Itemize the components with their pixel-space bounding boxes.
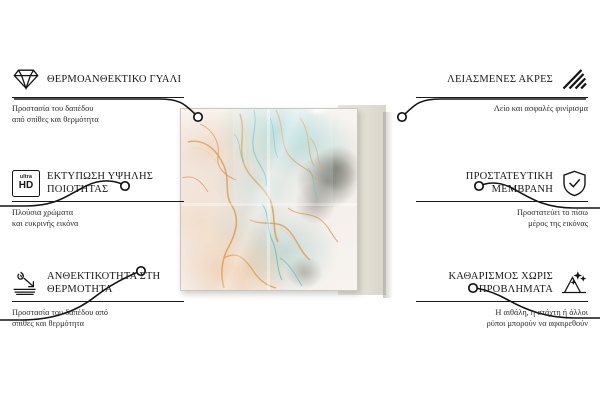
feature-description: Πλούσια χρώματακαι ευκρινής εικόνα [12, 207, 184, 229]
feature-description: Προστασία του δαπέδου απόσπίθες και θερμ… [12, 307, 184, 329]
feature-title: ΛΕΙΑΣΜΕΝΕΣ ΑΚΡΕΣ [447, 73, 553, 86]
window-mullion-vertical [267, 108, 270, 291]
feature-header: ΘΕΡΜΟΑΝΘΕΚΤΙΚΟ ΓΥΑΛΙ [12, 64, 184, 94]
window-reflection-box [233, 108, 333, 203]
feature-easy-cleaning: ΚΑΘΑΡΙΣΜΟΣ ΧΩΡΙΣ ΠΡΟΒΛΗΜΑΤΑ Η αιθάλη, η … [416, 268, 588, 329]
feature-header: ΚΑΘΑΡΙΣΜΟΣ ΧΩΡΙΣ ΠΡΟΒΛΗΜΑΤΑ [416, 268, 588, 298]
shield-check-icon [560, 169, 588, 197]
easy-cleaning-sparkle-icon [560, 269, 588, 297]
glass-panel-artwork [180, 108, 358, 291]
product-image-stage [178, 108, 400, 293]
feature-high-quality-print: ultra HD ΕΚΤΥΠΩΣΗ ΥΨΗΛΗΣ ΠΟΙΟΤΗΤΑΣ Πλούσ… [12, 168, 184, 229]
feature-polished-edges: ΛΕΙΑΣΜΕΝΕΣ ΑΚΡΕΣ Λείο και ασφαλές φινίρι… [416, 64, 588, 114]
feature-heat-durability: ΑΝΘΕΚΤΙΚΟΤΗΤΑ ΣΤΗ ΘΕΡΜΟΤΗΤΑ Προστασία το… [12, 268, 184, 329]
ultra-hd-icon: ultra HD [12, 169, 40, 197]
feature-title: ΑΝΘΕΚΤΙΚΟΤΗΤΑ ΣΤΗ ΘΕΡΜΟΤΗΤΑ [47, 270, 184, 296]
feature-header: ΛΕΙΑΣΜΕΝΕΣ ΑΚΡΕΣ [416, 64, 588, 94]
feature-divider [416, 301, 588, 302]
panel-cast-shadow [383, 112, 393, 298]
feature-divider [416, 201, 588, 202]
feature-title: ΘΕΡΜΟΑΝΘΕΚΤΙΚΟ ΓΥΑΛΙ [47, 73, 181, 86]
feature-description: Προστασία του δαπέδουαπό σπίθες και θερμ… [12, 103, 184, 125]
feature-header: ΑΝΘΕΚΤΙΚΟΤΗΤΑ ΣΤΗ ΘΕΡΜΟΤΗΤΑ [12, 268, 184, 298]
feature-title: ΠΡΟΣΤΑΤΕΥΤΙΚΗ ΜΕΜΒΡΑΝΗ [416, 170, 553, 196]
feature-protective-membrane: ΠΡΟΣΤΑΤΕΥΤΙΚΗ ΜΕΜΒΡΑΝΗ Προστατεύει το πί… [416, 168, 588, 229]
ultra-hd-icon-main-label: HD [19, 181, 33, 191]
feature-divider [416, 97, 588, 98]
window-mullion-horizontal [180, 203, 358, 206]
product-infographic: ΘΕΡΜΟΑΝΘΕΚΤΙΚΟ ΓΥΑΛΙ Προστασία του δαπέδ… [0, 0, 600, 400]
feature-description: Λείο και ασφαλές φινίρισμα [416, 103, 588, 114]
feature-title: ΚΑΘΑΡΙΣΜΟΣ ΧΩΡΙΣ ΠΡΟΒΛΗΜΑΤΑ [416, 270, 553, 296]
marble-ink-artwork [180, 108, 358, 291]
feature-description: Η αιθάλη, η στάχτη ή άλλοιρύποι μπορούν … [416, 307, 588, 329]
flame-heat-resistance-icon [12, 269, 40, 297]
feature-divider [12, 301, 184, 302]
feature-divider [12, 97, 184, 98]
feature-divider [12, 201, 184, 202]
feature-header: ΠΡΟΣΤΑΤΕΥΤΙΚΗ ΜΕΜΒΡΑΝΗ [416, 168, 588, 198]
feature-description: Προστατεύει το πίσωμέρος της εικόνας [416, 207, 588, 229]
diamond-icon [12, 65, 40, 93]
polished-edges-icon [560, 65, 588, 93]
feature-title: ΕΚΤΥΠΩΣΗ ΥΨΗΛΗΣ ΠΟΙΟΤΗΤΑΣ [47, 170, 184, 196]
glass-highlight-spot [305, 108, 331, 116]
feature-heat-resistant-glass: ΘΕΡΜΟΑΝΘΕΚΤΙΚΟ ΓΥΑΛΙ Προστασία του δαπέδ… [12, 64, 184, 125]
feature-header: ultra HD ΕΚΤΥΠΩΣΗ ΥΨΗΛΗΣ ΠΟΙΟΤΗΤΑΣ [12, 168, 184, 198]
